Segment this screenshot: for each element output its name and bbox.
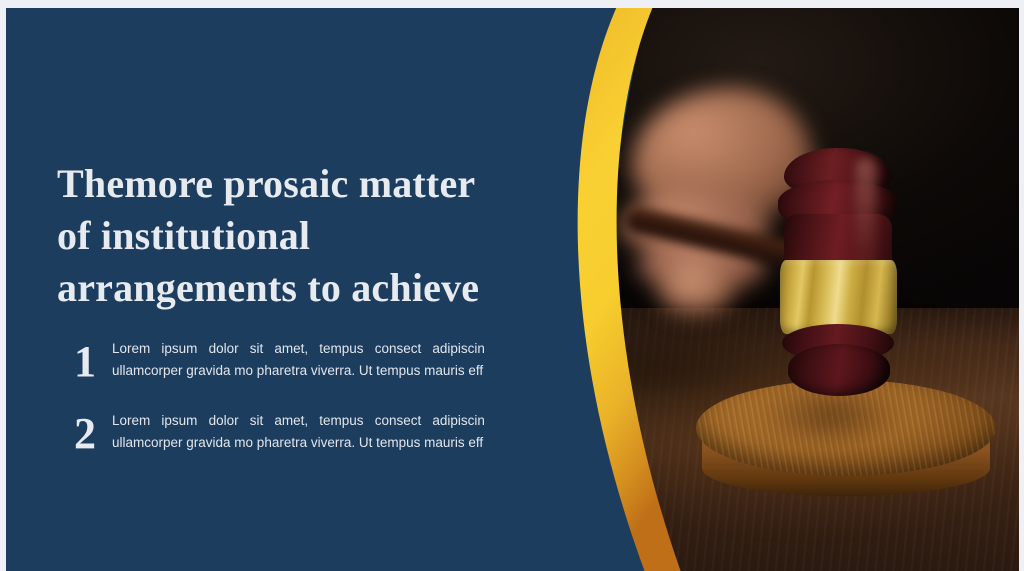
gavel-head bbox=[772, 148, 904, 396]
slide-canvas: Themore prosaic matter of institutional … bbox=[0, 0, 1024, 571]
headline-line-3: arrangements to achieve bbox=[57, 262, 484, 314]
list-item: 2 Lorem ipsum dolor sit amet, tempus con… bbox=[66, 404, 484, 464]
numbered-bullet-list: 1 Lorem ipsum dolor sit amet, tempus con… bbox=[66, 332, 484, 476]
presentation-slide: Themore prosaic matter of institutional … bbox=[6, 8, 1019, 571]
list-item: 1 Lorem ipsum dolor sit amet, tempus con… bbox=[66, 332, 484, 392]
bullet-number: 1 bbox=[66, 332, 112, 392]
gavel-highlight bbox=[856, 158, 876, 308]
bullet-body-text: Lorem ipsum dolor sit amet, tempus conse… bbox=[112, 332, 484, 382]
hand-thumb-tip bbox=[658, 266, 734, 314]
bullet-number: 2 bbox=[66, 404, 112, 464]
gavel-brass-band bbox=[780, 260, 897, 334]
headline-line-1: Themore prosaic matter bbox=[57, 158, 484, 210]
gavel-sound-block bbox=[696, 380, 996, 500]
gavel-foot bbox=[788, 344, 890, 396]
text-column: Themore prosaic matter of institutional … bbox=[6, 8, 484, 571]
bullet-body-text: Lorem ipsum dolor sit amet, tempus conse… bbox=[112, 404, 484, 454]
headline-line-2: of institutional bbox=[57, 210, 484, 262]
page-title: Themore prosaic matter of institutional … bbox=[57, 158, 484, 314]
